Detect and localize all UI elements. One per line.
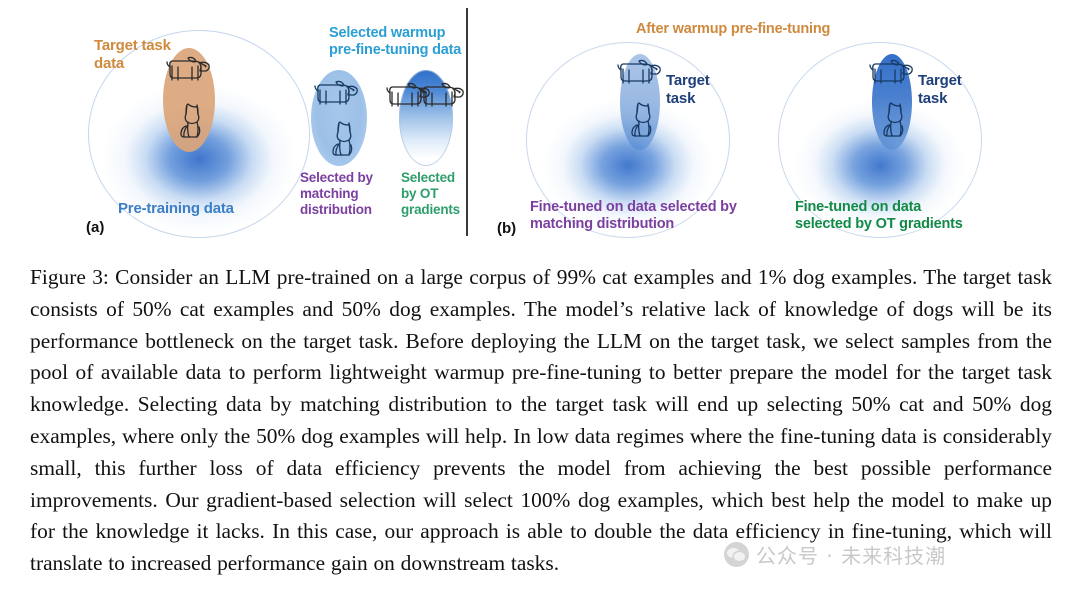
fine-tuned-ot-label: Fine-tuned on data selected by OT gradie… bbox=[795, 199, 963, 233]
dog-icon bbox=[420, 80, 466, 112]
selected-warmup-heading: Selected warmup pre-fine-tuning data bbox=[329, 25, 461, 59]
selected-by-matching-label: Selected by matching distribution bbox=[300, 170, 373, 218]
selected-by-ot-label: Selected by OT gradients bbox=[401, 170, 460, 218]
panel-a-tag: (a) bbox=[86, 219, 104, 236]
dog-icon bbox=[314, 78, 360, 110]
figure-caption: Figure 3: Consider an LLM pre-trained on… bbox=[30, 262, 1052, 580]
fine-tuned-matching-label: Fine-tuned on data selected by matching … bbox=[530, 199, 737, 233]
cat-icon bbox=[327, 119, 361, 161]
dog-icon bbox=[869, 57, 915, 89]
cat-icon bbox=[626, 100, 660, 142]
cat-icon bbox=[175, 101, 209, 143]
target-task-data-label: Target task data bbox=[94, 37, 171, 72]
target-task-label-left: Target task bbox=[666, 72, 710, 107]
cat-icon bbox=[878, 100, 912, 142]
target-task-label-right: Target task bbox=[918, 72, 962, 107]
figure-image: Target task data Pre-training data (a) S… bbox=[0, 0, 1080, 258]
dog-icon bbox=[166, 54, 212, 86]
panel-divider bbox=[466, 8, 468, 236]
pre-training-data-label: Pre-training data bbox=[118, 200, 234, 218]
after-warmup-heading: After warmup pre-fine-tuning bbox=[636, 21, 830, 38]
panel-b-tag: (b) bbox=[497, 220, 516, 237]
dog-icon bbox=[617, 57, 663, 89]
